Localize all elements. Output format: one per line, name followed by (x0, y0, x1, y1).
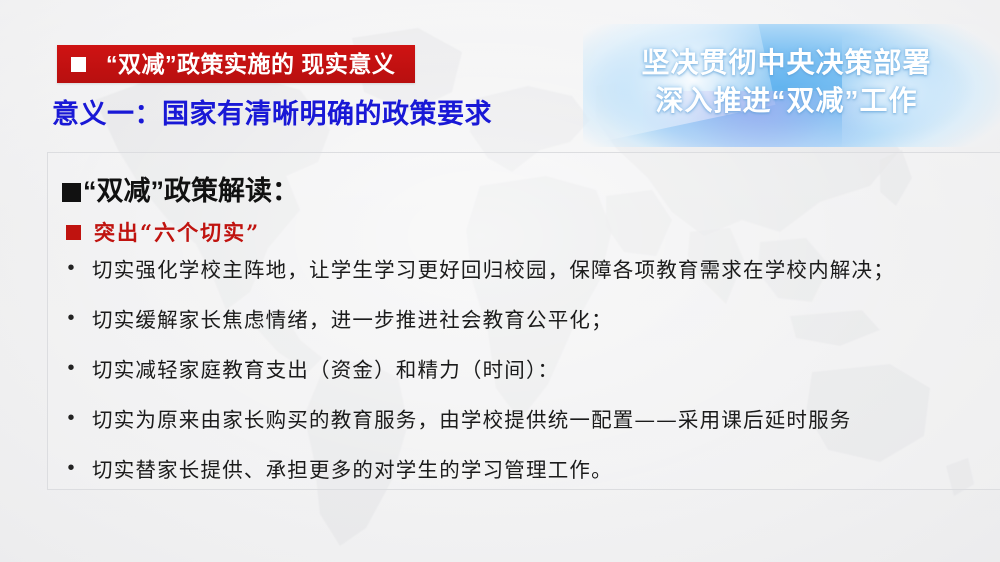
bullet-dot-icon: • (66, 358, 76, 378)
bullet-dot-icon: • (66, 258, 76, 278)
content-panel-inner: “双减”政策解读： 突出“六个切实” • 切实强化学校主阵地，让学生学习更好回归… (48, 153, 1000, 489)
bullet-list: • 切实强化学校主阵地，让学生学习更好回归校园，保障各项教育需求在学校内解决； … (62, 258, 1000, 490)
page-subtitle: 意义一：国家有清晰明确的政策要求 (52, 98, 492, 130)
bullet-dot-icon: • (66, 308, 76, 328)
list-item: • 切实为原来由家长购买的教育服务，由学校提供统一配置——采用课后延时服务 (66, 408, 1000, 452)
policy-interpretation-heading-text: “双减”政策解读： (83, 177, 299, 207)
section-title-chip: “双减”政策实施的 现实意义 (57, 45, 415, 83)
highlight-point-text: 突出“六个切实” (94, 221, 260, 244)
list-item: • 切实减轻家庭教育支出（资金）和精力（时间）： (66, 358, 1000, 402)
content-panel: “双减”政策解读： 突出“六个切实” • 切实强化学校主阵地，让学生学习更好回归… (47, 152, 1000, 490)
bullet-dot-icon: • (66, 408, 76, 428)
list-item-text: 切实缓解家长焦虑情绪，进一步推进社会教育公平化； (92, 308, 613, 334)
policy-interpretation-heading: “双减”政策解读： (62, 177, 1000, 207)
section-title-text: “双减”政策实施的 现实意义 (106, 53, 397, 76)
banner-line-1: 坚决贯彻中央决策部署 (583, 44, 990, 82)
list-item-text: 切实减轻家庭教育支出（资金）和精力（时间）： (92, 358, 559, 384)
white-square-marker-icon (71, 57, 86, 72)
slogan-banner: 坚决贯彻中央决策部署 深入推进“双减”工作 (583, 24, 1000, 147)
list-item: • 切实强化学校主阵地，让学生学习更好回归校园，保障各项教育需求在学校内解决； (66, 258, 1000, 302)
black-square-marker-icon (62, 183, 81, 202)
list-item-text: 切实为原来由家长购买的教育服务，由学校提供统一配置——采用课后延时服务 (92, 408, 852, 434)
banner-line-2: 深入推进“双减”工作 (583, 82, 990, 120)
list-item-text: 切实替家长提供、承担更多的对学生的学习管理工作。 (92, 458, 613, 484)
highlight-point: 突出“六个切实” (66, 221, 1000, 244)
slide-canvas: “双减”政策实施的 现实意义 意义一：国家有清晰明确的政策要求 坚决贯彻中央决策… (0, 0, 1000, 562)
list-item: • 切实替家长提供、承担更多的对学生的学习管理工作。 (66, 458, 1000, 490)
red-square-marker-icon (66, 225, 81, 240)
banner-text: 坚决贯彻中央决策部署 深入推进“双减”工作 (583, 44, 990, 120)
bullet-dot-icon: • (66, 458, 76, 478)
list-item-text: 切实强化学校主阵地，让学生学习更好回归校园，保障各项教育需求在学校内解决； (92, 258, 895, 284)
list-item: • 切实缓解家长焦虑情绪，进一步推进社会教育公平化； (66, 308, 1000, 352)
